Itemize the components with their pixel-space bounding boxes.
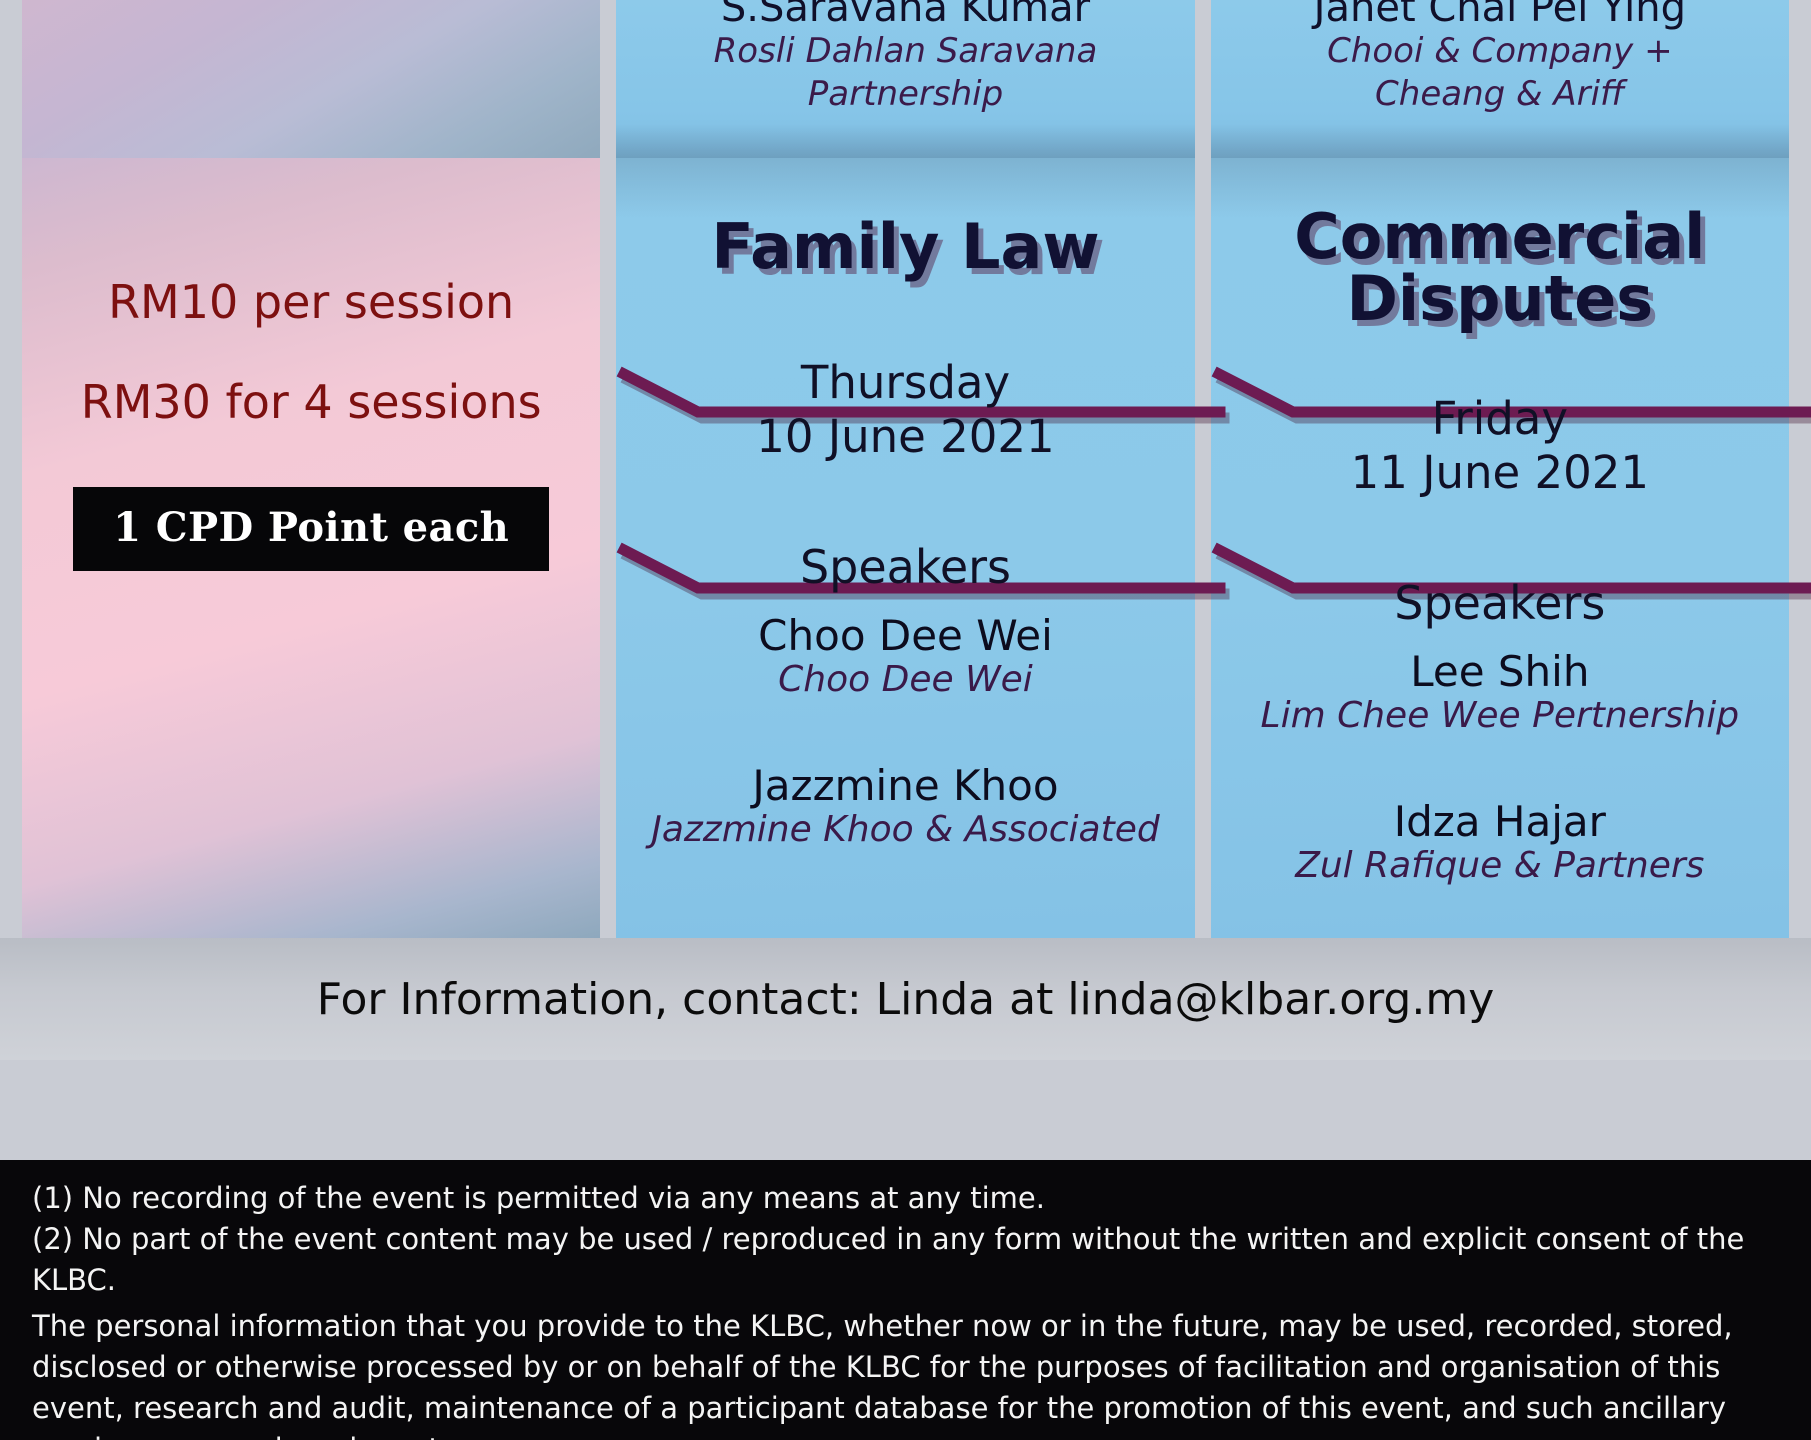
speaker-entry: Choo Dee Wei Choo Dee Wei xyxy=(616,612,1194,702)
poster-root: S.Saravana Kumar Rosli Dahlan Saravana P… xyxy=(0,0,1811,1440)
top-speaker-firm-line1: Chooi & Company + xyxy=(1211,31,1789,72)
contact-info-text: For Information, contact: Linda at linda… xyxy=(317,974,1495,1025)
speaker-name: Choo Dee Wei xyxy=(616,612,1194,659)
top-speaker-row: S.Saravana Kumar Rosli Dahlan Saravana P… xyxy=(0,0,1811,158)
top-speaker-firm-line2: Cheang & Ariff xyxy=(1211,74,1789,115)
session-title: Family Law xyxy=(616,158,1194,278)
speaker-firm: Lim Chee Wee Pertnership xyxy=(1211,695,1789,737)
top-speaker-card-2: Janet Chai Pei Ying Chooi & Company + Ch… xyxy=(1211,0,1789,158)
price-bundle: RM30 for 4 sessions xyxy=(81,375,542,429)
top-speaker-name: Janet Chai Pei Ying xyxy=(1211,0,1789,29)
top-speaker-firm-line1: Rosli Dahlan Saravana xyxy=(616,31,1194,72)
speaker-firm: Choo Dee Wei xyxy=(616,659,1194,701)
session-day: Friday xyxy=(1211,392,1789,446)
disclaimer-item-2: (2) No part of the event content may be … xyxy=(32,1219,1783,1301)
session-title-line2: Disputes xyxy=(1211,268,1789,330)
session-card-family-law: Family Law Thursday 10 June 2021 Speaker… xyxy=(616,158,1194,938)
disclaimer-block: (1) No recording of the event is permitt… xyxy=(0,1160,1811,1440)
speakers-heading: Speakers xyxy=(1211,576,1789,630)
session-day: Thursday xyxy=(616,356,1194,410)
speakers-heading: Speakers xyxy=(616,540,1194,594)
session-date-block: Friday 11 June 2021 xyxy=(1211,392,1789,500)
session-date: 11 June 2021 xyxy=(1211,446,1789,500)
session-columns: RM10 per session RM30 for 4 sessions 1 C… xyxy=(0,158,1811,938)
pricing-panel: RM10 per session RM30 for 4 sessions 1 C… xyxy=(22,158,600,938)
speaker-entry: Jazzmine Khoo Jazzmine Khoo & Associated xyxy=(616,762,1194,852)
session-date-block: Thursday 10 June 2021 xyxy=(616,356,1194,464)
speaker-entry: Lee Shih Lim Chee Wee Pertnership xyxy=(1211,648,1789,738)
speaker-firm: Zul Rafique & Partners xyxy=(1211,845,1789,887)
speaker-name: Jazzmine Khoo xyxy=(616,762,1194,809)
session-date: 10 June 2021 xyxy=(616,410,1194,464)
speaker-name: Idza Hajar xyxy=(1211,798,1789,845)
disclaimer-item-1: (1) No recording of the event is permitt… xyxy=(32,1178,1783,1219)
session-card-commercial-disputes: Commercial Disputes Friday 11 June 2021 … xyxy=(1211,158,1789,938)
top-speaker-name: S.Saravana Kumar xyxy=(616,0,1194,29)
disclaimer-privacy-paragraph: The personal information that you provid… xyxy=(32,1306,1783,1440)
session-title-line1: Commercial xyxy=(1211,158,1789,268)
top-left-gradient-panel xyxy=(22,0,600,158)
contact-band: For Information, contact: Linda at linda… xyxy=(0,938,1811,1060)
top-speaker-firm-line2: Partnership xyxy=(616,74,1194,115)
speaker-firm: Jazzmine Khoo & Associated xyxy=(616,809,1194,851)
speaker-name: Lee Shih xyxy=(1211,648,1789,695)
price-per-session: RM10 per session xyxy=(108,275,514,329)
speaker-entry: Idza Hajar Zul Rafique & Partners xyxy=(1211,798,1789,888)
cpd-point-badge: 1 CPD Point each xyxy=(73,487,549,571)
top-speaker-card-1: S.Saravana Kumar Rosli Dahlan Saravana P… xyxy=(616,0,1194,158)
